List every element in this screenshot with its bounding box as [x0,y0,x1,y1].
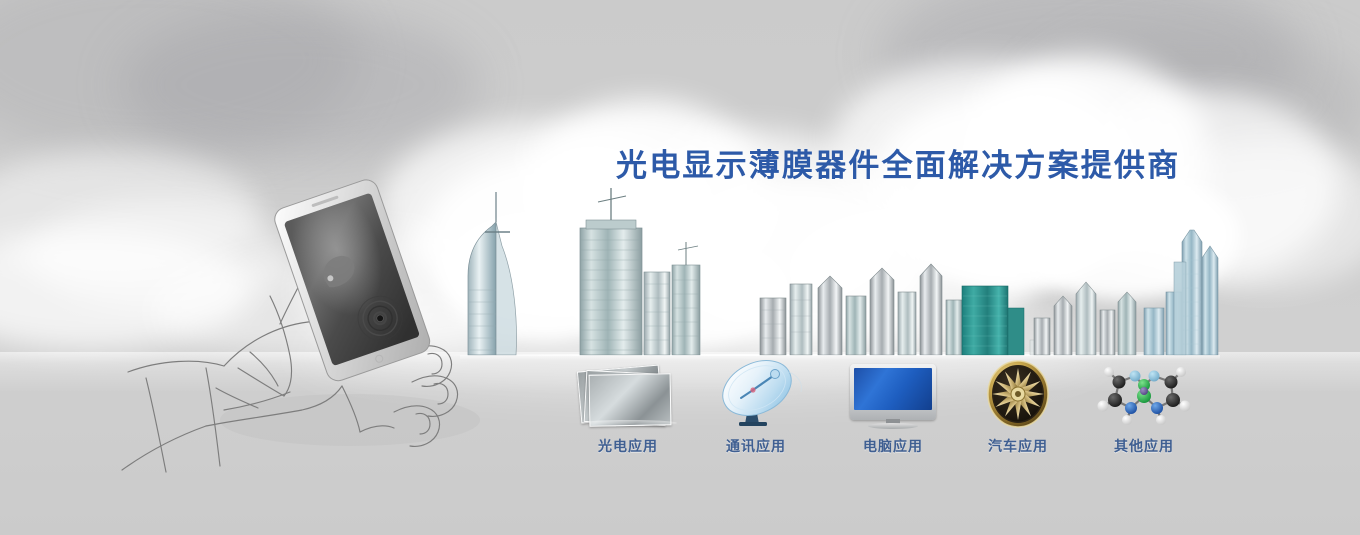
building-cluster-right [1034,282,1136,355]
satellite-dish-icon [691,358,821,430]
application-item-automotive[interactable]: 汽车应用 [953,358,1083,456]
molecule-icon [1079,358,1209,430]
building-teal [954,286,1024,355]
application-label: 通讯应用 [691,436,821,456]
application-item-optoelectronic[interactable]: 光电应用 [563,358,693,456]
hero-banner: 光电显示薄膜器件全面解决方案提供商 光电应用 [0,0,1360,535]
application-label: 电脑应用 [828,436,958,456]
application-label: 汽车应用 [953,436,1083,456]
glass-panels-icon [563,358,693,430]
car-wheel-icon [953,358,1083,430]
application-item-computer[interactable]: 电脑应用 [828,358,958,456]
building-cluster-center [760,264,962,355]
building-main-tower [580,188,642,355]
building-cluster-blue [1144,230,1218,355]
application-label: 其他应用 [1079,436,1209,456]
city-skyline [430,180,1220,360]
building-pair [644,242,700,355]
smartphone [272,177,433,384]
application-label: 光电应用 [563,436,693,456]
application-item-other[interactable]: 其他应用 [1079,358,1209,456]
application-item-communication[interactable]: 通讯应用 [691,358,821,456]
hand-phone-illustration [120,120,500,490]
computer-monitor-icon [828,358,958,430]
page-title: 光电显示薄膜器件全面解决方案提供商 [616,140,1180,185]
